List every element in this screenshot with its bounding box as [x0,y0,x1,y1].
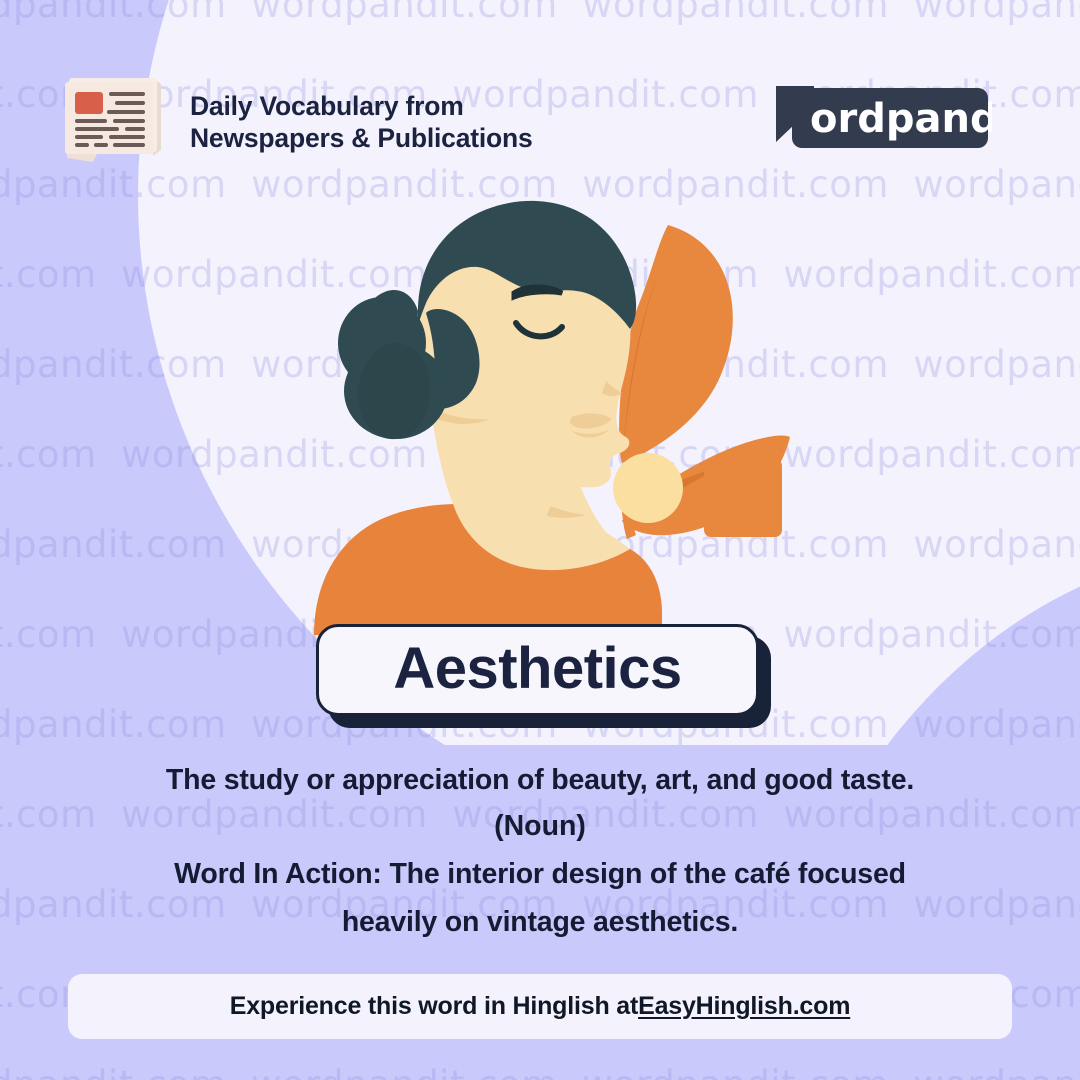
part-of-speech: (Noun) [40,803,1040,849]
word-card-body: Aesthetics [316,624,759,716]
decor-circle [613,453,683,523]
vocabulary-word: Aesthetics [393,640,681,698]
header: Daily Vocabulary from Newspapers & Publi… [0,0,1080,195]
word-card: Aesthetics [316,624,771,728]
word-in-action-line-1: Word In Action: The interior design of t… [40,851,1040,897]
header-title: Daily Vocabulary from Newspapers & Publi… [190,90,533,155]
word-meaning: The study or appreciation of beauty, art… [40,757,1040,803]
header-title-line-1: Daily Vocabulary from [190,90,533,122]
woman-profile-illustration [300,195,830,635]
hinglish-banner[interactable]: Experience this word in Hinglish at Easy… [68,974,1012,1039]
decor-square [704,459,782,537]
easyhinglish-link[interactable]: EasyHinglish.com [638,992,850,1021]
hinglish-banner-prefix: Experience this word in Hinglish at [230,992,638,1021]
newspaper-icon [57,72,169,164]
logo-text: ordpandit [810,96,992,142]
wordpandit-logo[interactable]: ordpandit [770,84,992,152]
poster-canvas: wordpandit.com wordpandit.com wordpandit… [0,0,1080,1080]
leaf-large-icon [619,225,733,463]
definition-block: The study or appreciation of beauty, art… [40,757,1040,946]
word-in-action-line-2: heavily on vintage aesthetics. [40,899,1040,945]
header-title-line-2: Newspapers & Publications [190,122,533,154]
